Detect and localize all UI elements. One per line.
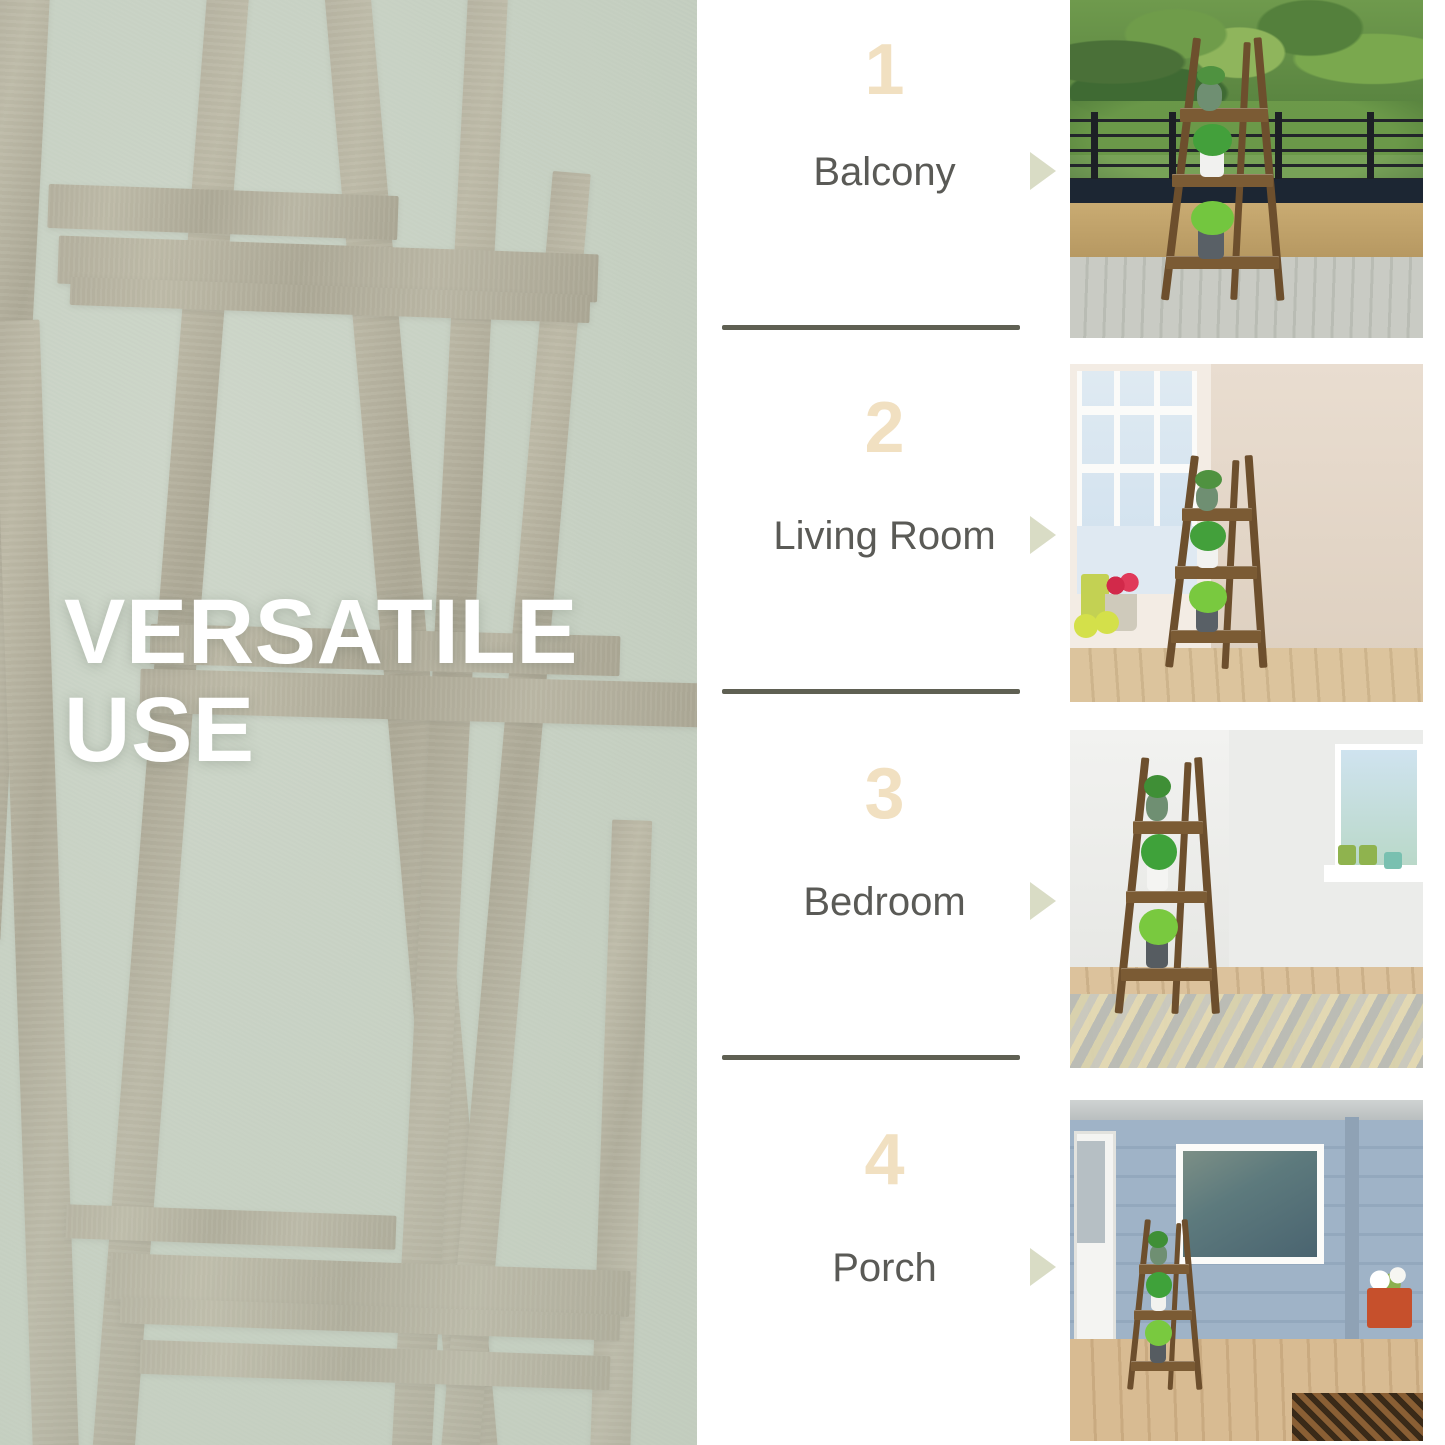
versatile-use-poster: VERSATILE USE 1 Balcony [0, 0, 1445, 1445]
list-divider [722, 689, 1020, 694]
chevron-right-icon[interactable] [1030, 516, 1056, 554]
list-item-photo [1070, 364, 1423, 702]
list-item-number: 4 [722, 1124, 1047, 1196]
page-title-line-2: USE [64, 682, 664, 780]
list-item[interactable]: 3 Bedroom [697, 730, 1445, 1092]
list-item[interactable]: 4 Porch [697, 1096, 1445, 1445]
list-item-label: Living Room [722, 516, 1047, 556]
hero-panel: VERSATILE USE [0, 0, 697, 1445]
list-item-text: 2 Living Room [722, 364, 1047, 726]
list-item-photo [1070, 0, 1423, 338]
page-title-line-1: VERSATILE [64, 584, 664, 682]
list-item[interactable]: 1 Balcony [697, 0, 1445, 362]
list-divider [722, 325, 1020, 330]
list-item-number: 3 [722, 758, 1047, 830]
list-item-label: Balcony [722, 152, 1047, 192]
list-item-label: Porch [722, 1248, 1047, 1288]
product-plant-stand [1155, 37, 1296, 301]
use-case-list: 1 Balcony [697, 0, 1445, 1445]
list-item-number: 1 [722, 34, 1047, 106]
list-item-number: 2 [722, 392, 1047, 464]
product-plant-stand [1112, 757, 1225, 1014]
list-item[interactable]: 2 Living Room [697, 364, 1445, 726]
list-item-label: Bedroom [722, 882, 1047, 922]
list-item-text: 3 Bedroom [722, 730, 1047, 1092]
list-item-photo [1070, 730, 1423, 1068]
list-divider [722, 1055, 1020, 1060]
list-item-photo [1070, 1100, 1423, 1441]
product-plant-stand [1126, 1219, 1204, 1390]
chevron-right-icon[interactable] [1030, 152, 1056, 190]
chevron-right-icon[interactable] [1030, 1248, 1056, 1286]
list-item-text: 1 Balcony [722, 0, 1047, 362]
chevron-right-icon[interactable] [1030, 882, 1056, 920]
product-plant-stand [1162, 455, 1275, 668]
page-title: VERSATILE USE [64, 584, 664, 779]
list-item-text: 4 Porch [722, 1096, 1047, 1445]
